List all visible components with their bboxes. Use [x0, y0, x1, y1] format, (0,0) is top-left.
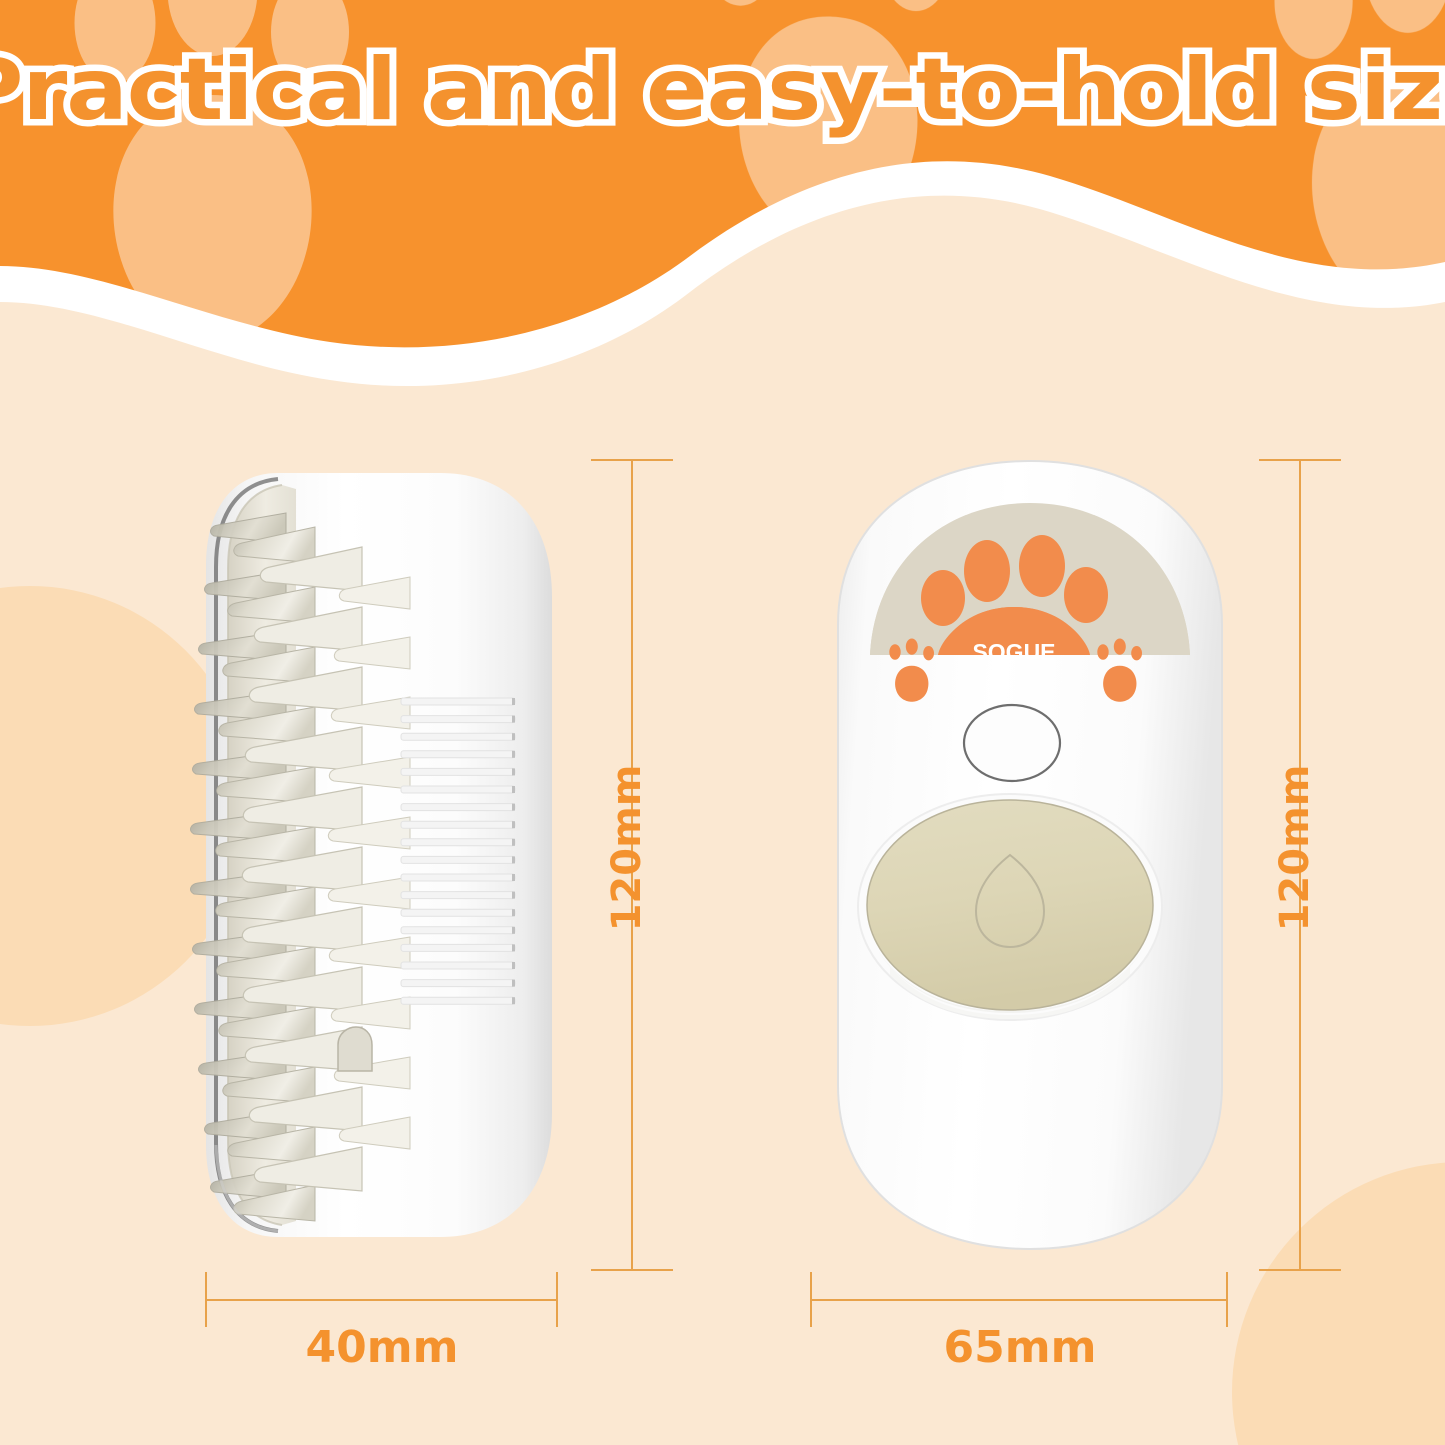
dimension-cap-right-height-top — [1259, 459, 1341, 461]
brush-svg — [110, 455, 580, 1255]
brush-vent-slot-cap — [512, 751, 515, 758]
dimension-cap-left-height-bottom — [591, 1269, 673, 1271]
dimension-cap-right-height-bottom — [1259, 1269, 1341, 1271]
brush-vent-slot-cap — [512, 839, 515, 846]
dimension-label-left-height: 120mm — [604, 765, 650, 932]
brush-vent-slot — [401, 733, 515, 740]
brush-vent-slot — [401, 944, 515, 951]
decorative-circle-bottom-right — [1232, 1162, 1445, 1445]
dimension-cap-right-width-start — [810, 1272, 812, 1327]
power-button[interactable] — [964, 705, 1060, 781]
brush-vent-slot — [401, 874, 515, 881]
dimension-line-right-width — [810, 1299, 1228, 1301]
brush-vent-slot — [401, 786, 515, 793]
brush-vent-slot-cap — [512, 944, 515, 951]
brush-vent-slot-cap — [512, 856, 515, 863]
dimension-label-right-height: 120mm — [1272, 765, 1318, 932]
brush-vent-slot-cap — [512, 804, 515, 811]
brush-vent-slot — [401, 839, 515, 846]
brush-vent-slot — [401, 909, 515, 916]
dimension-line-left-width — [205, 1299, 558, 1301]
dimension-label-left-width: 40mm — [0, 1322, 764, 1373]
brush-water-outlet — [338, 1027, 372, 1071]
product-image-silicone-brush — [110, 455, 580, 1255]
brush-vent-slot — [401, 962, 515, 969]
brush-vent-slot-cap — [512, 962, 515, 969]
brush-vent-slot — [401, 892, 515, 899]
brush-vent-slot — [401, 927, 515, 934]
brush-vent-slot-cap — [512, 909, 515, 916]
device-svg: SOGUE — [830, 455, 1230, 1255]
brush-vent-slot — [401, 751, 515, 758]
brush-vent-slot-cap — [512, 768, 515, 775]
dimension-cap-left-width-end — [556, 1272, 558, 1327]
brush-vent-slot — [401, 716, 515, 723]
brush-vent-slot — [401, 997, 515, 1004]
page-title: Practical and easy-to-hold size — [0, 44, 1445, 137]
brush-vent-slot-cap — [512, 698, 515, 705]
brush-vent-slot-cap — [512, 997, 515, 1004]
brush-vent-slot — [401, 698, 515, 705]
dimension-cap-left-width-start — [205, 1272, 207, 1327]
brush-vent-slot-cap — [512, 786, 515, 793]
brush-vent-slot-cap — [512, 892, 515, 899]
dimension-cap-left-height-top — [591, 459, 673, 461]
brush-vent-slot — [401, 821, 515, 828]
dimension-label-right-width: 65mm — [690, 1322, 1350, 1373]
brush-vent-slot-cap — [512, 874, 515, 881]
brush-vent-slot — [401, 804, 515, 811]
brush-vent-slot — [401, 856, 515, 863]
brush-vent-slot-cap — [512, 980, 515, 987]
infographic-page: Practical and easy-to-hold size — [0, 0, 1445, 1445]
brand-logo-text: SOGUE — [972, 639, 1055, 665]
dimension-cap-right-width-end — [1226, 1272, 1228, 1327]
product-image-steam-device: SOGUE — [830, 455, 1230, 1255]
brush-vent-slot-cap — [512, 927, 515, 934]
brush-vent-slot-cap — [512, 733, 515, 740]
brush-vent-slot — [401, 768, 515, 775]
header-banner: Practical and easy-to-hold size — [0, 0, 1445, 390]
brush-vent-slot-cap — [512, 821, 515, 828]
brush-vent-slot-cap — [512, 716, 515, 723]
tank-cap[interactable] — [867, 800, 1153, 1010]
brush-vent-slot — [401, 980, 515, 987]
